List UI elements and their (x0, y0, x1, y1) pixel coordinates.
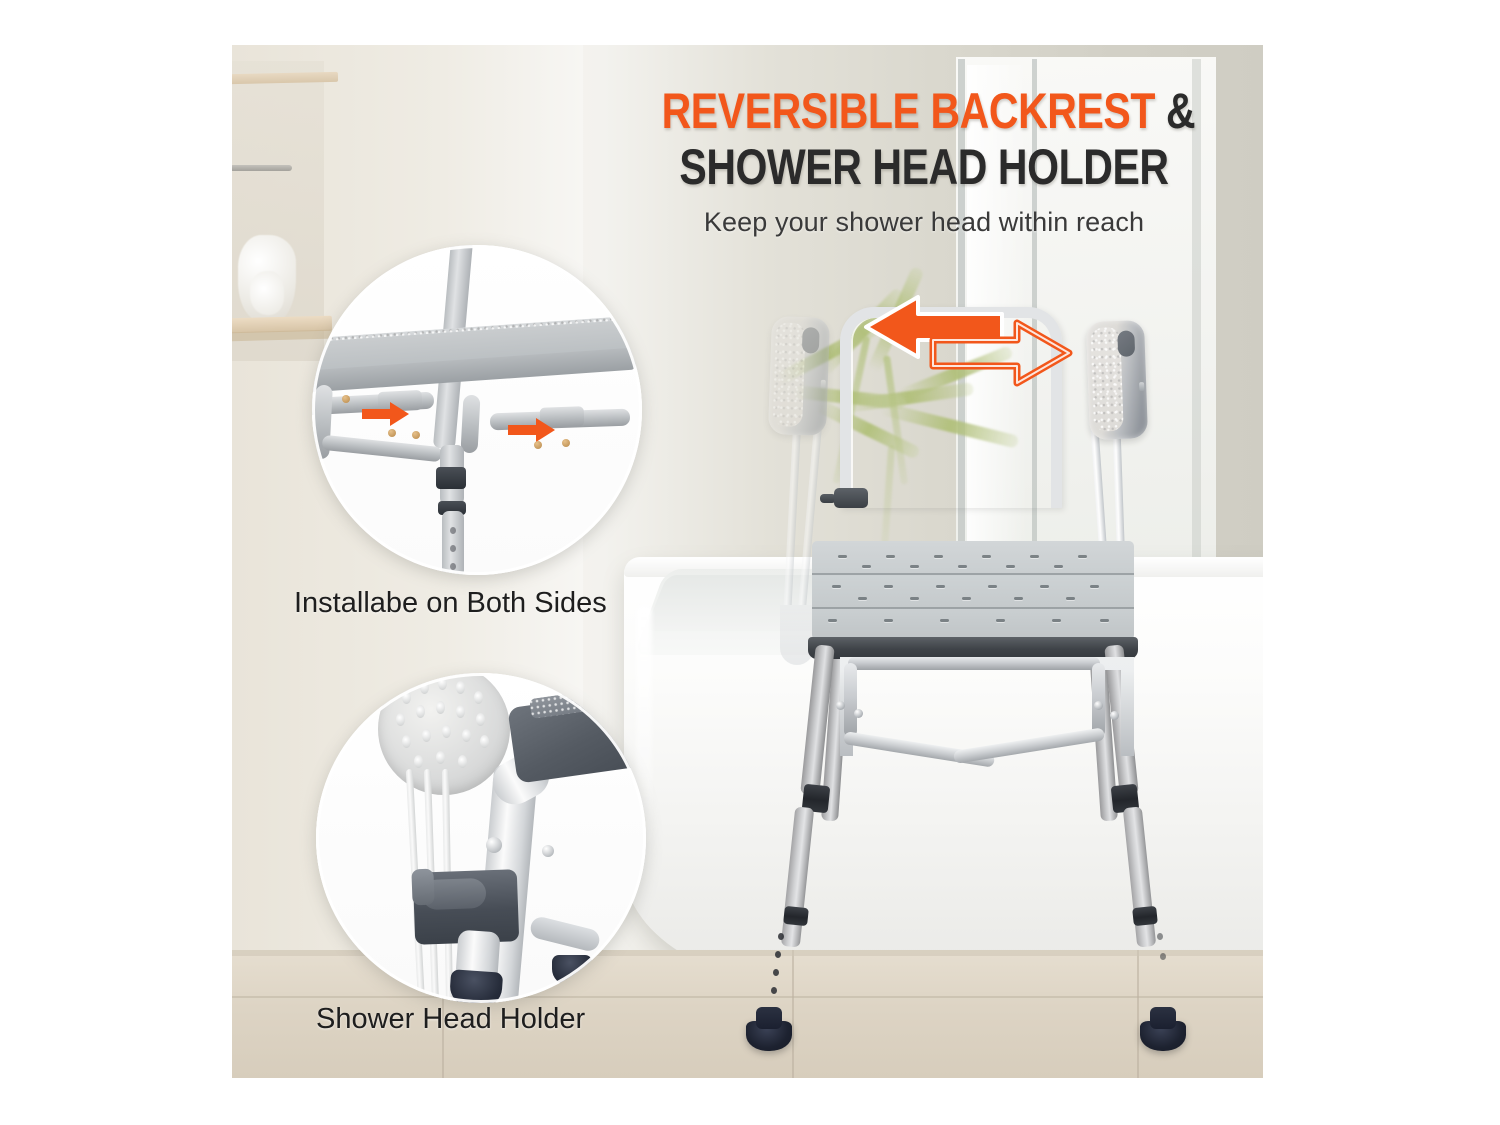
photo-plate: Installabe on Both Sides Shower Head Hol… (232, 45, 1263, 1078)
frame-arch-top (848, 657, 1100, 670)
headline-ampersand: & (1155, 83, 1195, 139)
caption-installable: Installabe on Both Sides (294, 587, 607, 620)
inset-installable-both-sides (312, 245, 642, 575)
inset1-arrow-left (362, 401, 410, 427)
leg-collar-front-left-mid (783, 906, 809, 926)
headline-subtitle: Keep your shower head within reach (604, 207, 1244, 238)
headline-orange-text: REVERSIBLE BACKREST (662, 83, 1155, 139)
leg-front-left-lower (781, 806, 815, 947)
backrest-lock-knob (834, 488, 868, 508)
inset1-backrest-tube-right (460, 395, 480, 454)
seat (812, 541, 1134, 641)
product-marketing-image: Installabe on Both Sides Shower Head Hol… (0, 0, 1500, 1125)
inset2-rear-foot (552, 955, 592, 985)
inset1-collar-a (436, 467, 466, 489)
inset2-rubber-foot (449, 969, 503, 1003)
frame-arch-right (1092, 663, 1105, 737)
clip-screw-left (486, 837, 502, 853)
leg-front-right-lower (1123, 806, 1157, 947)
headline-block: REVERSIBLE BACKREST & SHOWER HEAD HOLDER… (604, 85, 1244, 238)
leg-collar-front-right-mid (1132, 906, 1158, 926)
headline-line-1: REVERSIBLE BACKREST & (662, 85, 1187, 137)
inset-shower-head-holder (316, 673, 646, 1003)
clip-tab (411, 869, 434, 906)
clip-screw-right (542, 845, 554, 857)
frame-arch-left (844, 663, 857, 737)
headline-line-2: SHOWER HEAD HOLDER (662, 141, 1187, 193)
reversible-arrows (860, 290, 1075, 400)
seat-edge-trim (808, 637, 1138, 659)
caption-shower-head-holder: Shower Head Holder (316, 1003, 585, 1036)
inset1-arrow-right (508, 417, 556, 443)
